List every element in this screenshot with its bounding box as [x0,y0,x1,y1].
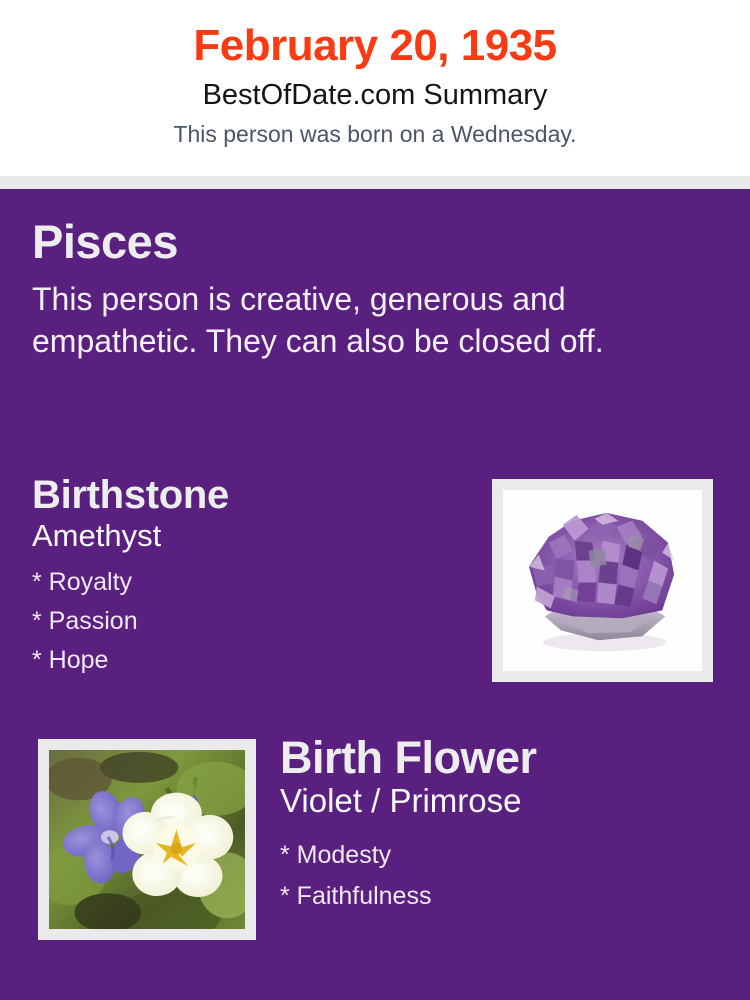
birthstone-heading: Birthstone [32,474,472,516]
page-header: February 20, 1935 BestOfDate.com Summary… [0,0,750,176]
list-item: * Passion [32,602,472,641]
birth-flower-trait-list: * Modesty * Faithfulness [280,835,730,917]
birthstone-image-frame [492,479,713,682]
birth-flower-image-inner [49,750,245,929]
birthstone-image-inner [503,490,702,671]
birth-flower-heading: Birth Flower [280,734,730,781]
flower-illustration [49,750,245,929]
amethyst-crystal-cluster-photo [503,490,702,671]
amethyst-illustration [503,490,702,671]
list-item: * Modesty [280,835,730,876]
birth-flower-image-frame [38,739,256,940]
zodiac-section: Pisces This person is creative, generous… [32,217,712,363]
header-divider [0,176,750,189]
zodiac-sign-name: Pisces [32,217,712,266]
site-summary-label: BestOfDate.com Summary [0,79,750,112]
birth-flower-section: Birth Flower Violet / Primrose * Modesty… [280,734,730,917]
list-item: * Hope [32,641,472,680]
list-item: * Royalty [32,563,472,602]
violet-and-primrose-flowers-photo [49,750,245,929]
zodiac-description: This person is creative, generous and em… [32,279,704,362]
birth-flower-name: Violet / Primrose [280,782,730,820]
birthstone-name: Amethyst [32,518,472,554]
list-item: * Faithfulness [280,876,730,917]
page-title: February 20, 1935 [0,22,750,70]
birthstone-trait-list: * Royalty * Passion * Hope [32,563,472,680]
day-of-week-line: This person was born on a Wednesday. [0,121,750,149]
birthstone-section: Birthstone Amethyst * Royalty * Passion … [32,474,472,680]
summary-body: Pisces This person is creative, generous… [0,189,750,1000]
